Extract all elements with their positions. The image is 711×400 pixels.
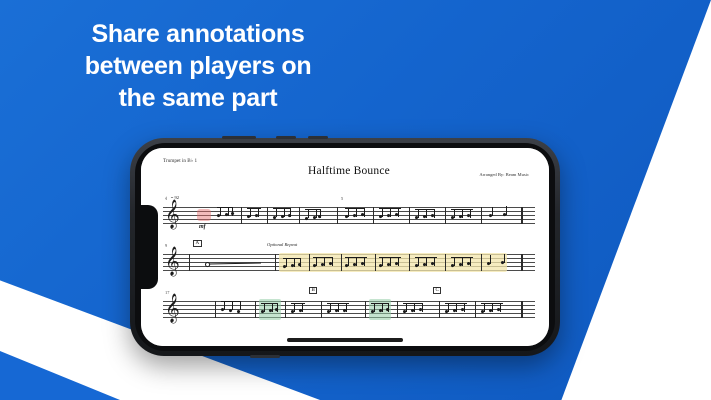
note-stem: [232, 207, 233, 216]
note-stem: [470, 257, 471, 266]
barline: [309, 254, 310, 271]
note-stem: [382, 208, 383, 217]
note-stem: [364, 208, 365, 217]
barline: [275, 254, 276, 271]
note-stem: [470, 209, 471, 218]
barline: [375, 254, 376, 271]
note-stem: [398, 257, 399, 266]
barline: [341, 254, 342, 271]
phone-notch: [141, 205, 158, 289]
note-stem: [276, 208, 277, 217]
note-stem: [422, 303, 423, 312]
phone-volume-down-button[interactable]: [308, 136, 328, 139]
note-stem: [316, 209, 317, 218]
note-stem: [302, 303, 303, 312]
rehearsal-mark-a: A: [193, 240, 202, 247]
note-stem: [418, 209, 419, 218]
sheet-music-page[interactable]: Trumpet in B♭ 1 Halftime Bounce Arranged…: [141, 148, 549, 346]
headline-line-3: the same part: [33, 82, 363, 114]
note-stem: [224, 301, 225, 310]
phone-screen[interactable]: Trumpet in B♭ 1 Halftime Bounce Arranged…: [141, 148, 549, 346]
promo-banner: Share annotations between players on the…: [0, 0, 711, 400]
note-stem: [500, 303, 501, 312]
barline: [439, 301, 440, 318]
note-stem: [484, 303, 485, 312]
note-stem: [356, 208, 357, 217]
barline: [373, 207, 374, 224]
barline: [481, 254, 482, 271]
headline-line-2: between players on: [33, 50, 363, 82]
phone-volume-up-button[interactable]: [276, 136, 296, 139]
barline: [299, 207, 300, 224]
barline: [285, 301, 286, 318]
note-stem: [228, 207, 229, 216]
home-indicator[interactable]: [287, 338, 403, 342]
note-stem: [272, 303, 273, 312]
note-stem: [462, 257, 463, 266]
barline-end: [521, 301, 523, 318]
cue-text-optional-repeat: Optional Repeat: [267, 242, 297, 247]
note-stem: [364, 257, 365, 266]
note-stem: [258, 208, 259, 217]
note-stem: [300, 258, 301, 267]
staff-lines-3: [163, 301, 535, 318]
arranger-credit: Arranged By: Beam Music: [479, 172, 529, 177]
note-stem: [418, 257, 419, 266]
barline: [409, 254, 410, 271]
note-stem: [448, 303, 449, 312]
barline: [241, 207, 242, 224]
rehearsal-mark-b: B: [309, 287, 317, 294]
note-stem: [388, 303, 389, 312]
phone-frame: Trumpet in B♭ 1 Halftime Bounce Arranged…: [130, 138, 560, 356]
staff-system-1[interactable]: ♩ = 92 1 5 𝄞 mf: [163, 193, 535, 237]
note-stem: [462, 209, 463, 218]
note-stem: [414, 303, 415, 312]
note-stem: [294, 258, 295, 267]
part-name-label: Trumpet in B♭ 1: [163, 158, 197, 164]
note-stem: [294, 303, 295, 312]
barline: [267, 207, 268, 224]
barline: [215, 301, 216, 318]
barline: [337, 207, 338, 224]
note-stem: [374, 303, 375, 312]
note-stem: [240, 301, 241, 310]
note-stem: [308, 209, 309, 218]
staff-system-3[interactable]: 17 B C 𝄞: [163, 287, 535, 331]
note-stem: [330, 303, 331, 312]
note-stem: [332, 257, 333, 266]
note-stem: [504, 254, 505, 263]
note-stem: [324, 257, 325, 266]
barline: [409, 207, 410, 224]
staff-system-2[interactable]: 9 A Optional Repeat 𝄞: [163, 240, 535, 284]
note-stem: [277, 303, 278, 312]
note-stem: [348, 208, 349, 217]
note-stem: [426, 257, 427, 266]
note-stem: [250, 208, 251, 217]
note-stem: [286, 258, 287, 267]
note-stem: [406, 303, 407, 312]
barline: [445, 254, 446, 271]
note-stem: [348, 257, 349, 266]
phone-power-button[interactable]: [250, 355, 280, 358]
treble-clef-icon: 𝄞: [165, 201, 180, 226]
headline: Share annotations between players on the…: [33, 18, 363, 114]
treble-clef-icon: 𝄞: [165, 248, 180, 273]
note-stem: [454, 209, 455, 218]
note-stem: [490, 255, 491, 264]
note-stem: [390, 257, 391, 266]
phone-volume-button[interactable]: [222, 136, 256, 139]
note-stem: [290, 208, 291, 217]
phone-mockup: Trumpet in B♭ 1 Halftime Bounce Arranged…: [130, 138, 560, 356]
note-stem: [456, 303, 457, 312]
note-stem: [382, 303, 383, 312]
note-stem: [506, 206, 507, 215]
note-stem: [434, 257, 435, 266]
score-header: Trumpet in B♭ 1 Halftime Bounce Arranged…: [163, 156, 535, 190]
note-stem: [232, 301, 233, 310]
headline-line-1: Share annotations: [33, 18, 363, 50]
annotation-highlight-yellow[interactable]: [279, 253, 507, 272]
barline: [475, 301, 476, 318]
treble-clef-icon: 𝄞: [165, 295, 180, 320]
barline: [445, 207, 446, 224]
note-stem: [346, 303, 347, 312]
note-stem: [390, 208, 391, 217]
barline: [321, 301, 322, 318]
measure-number-5: 5: [341, 196, 343, 201]
note-stem: [492, 207, 493, 216]
note-stem: [320, 209, 321, 218]
note-stem: [356, 257, 357, 266]
note-stem: [382, 257, 383, 266]
note-stem: [454, 257, 455, 266]
note-stem: [464, 303, 465, 312]
note-stem: [492, 303, 493, 312]
rehearsal-mark-c: C: [433, 287, 441, 294]
note-stem: [264, 303, 265, 312]
barline: [397, 301, 398, 318]
note-stem: [220, 207, 221, 216]
note-stem: [284, 208, 285, 217]
barline-end: [521, 254, 523, 271]
annotation-highlight-red[interactable]: [197, 209, 211, 221]
dynamic-marking-mf: mf: [199, 224, 206, 230]
note-stem: [434, 209, 435, 218]
note-stem: [426, 209, 427, 218]
note-stem: [338, 303, 339, 312]
barline: [255, 301, 256, 318]
note-stem: [316, 257, 317, 266]
barline: [481, 207, 482, 224]
note-stem: [398, 208, 399, 217]
barline-end: [521, 207, 523, 224]
barline: [365, 301, 366, 318]
barline: [189, 254, 190, 271]
